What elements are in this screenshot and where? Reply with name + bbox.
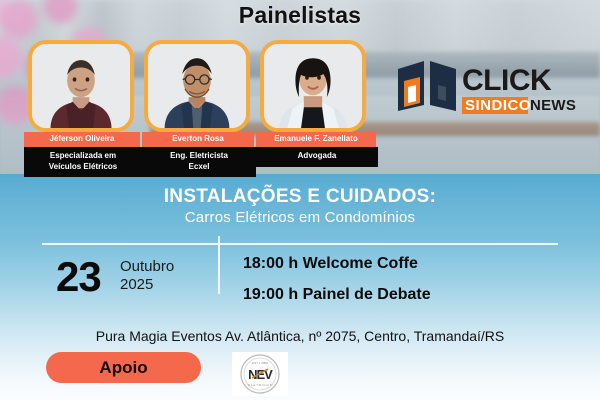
logo-word-click: CLICK bbox=[462, 64, 552, 97]
logo-word-news: NEWS bbox=[530, 97, 576, 114]
logo-word-sindico: SINDICO bbox=[465, 97, 531, 114]
event-day: 23 bbox=[56, 256, 101, 298]
open-book-building-icon bbox=[398, 61, 456, 111]
panelist-name: Everton Rosa bbox=[142, 132, 254, 147]
panelist-name: Emanuele F. Zanellato bbox=[256, 132, 376, 147]
panelist-photo-frame bbox=[260, 40, 366, 132]
sponsor-top-microtext: EST 1 2008 bbox=[252, 361, 268, 365]
sponsor-logo-container: EST 1 2008 NEV E L É T R I C O S bbox=[232, 352, 288, 396]
panelist-role-line-1: Advogada bbox=[258, 151, 376, 162]
panelist-role-line-1: Especializada em bbox=[26, 151, 140, 162]
nev-circular-seal-logo: EST 1 2008 NEV E L É T R I C O S bbox=[232, 352, 288, 396]
schedule-item-welcome-coffee: 18:00 h Welcome Coffe bbox=[243, 255, 418, 273]
panelist-card: Jéferson Oliveira Especializada em Veícu… bbox=[28, 40, 134, 177]
click-sindico-news-logo: CLICK SINDICO NEWS bbox=[396, 57, 576, 119]
event-flyer: Painelistas Jéferson Oliveira Espec bbox=[0, 0, 600, 400]
schedule-item-panel-debate: 19:00 h Painel de Debate bbox=[243, 286, 431, 304]
sponsor-bottom-microtext: E L É T R I C O S bbox=[248, 382, 271, 387]
panelists-heading: Painelistas bbox=[0, 2, 600, 29]
panelist-name: Jéferson Oliveira bbox=[24, 132, 140, 147]
venue-address: Pura Magia Eventos Av. Atlântica, nº 207… bbox=[0, 328, 600, 344]
panelist-card: Everton Rosa Eng. Eletricista Ecxel bbox=[144, 40, 250, 177]
panelists-list: Jéferson Oliveira Especializada em Veícu… bbox=[28, 40, 368, 177]
panelist-role-line-2: Ecxel bbox=[144, 162, 254, 173]
panelist-photo-frame bbox=[144, 40, 250, 132]
vertical-divider bbox=[218, 236, 220, 294]
event-year: 2025 bbox=[120, 276, 153, 295]
panelist-role: Eng. Eletricista Ecxel bbox=[142, 147, 256, 178]
event-title: INSTALAÇÕES E CUIDADOS: bbox=[0, 186, 600, 208]
sponsor-name: NEV bbox=[248, 367, 273, 382]
event-subtitle: Carros Elétricos em Condomínios bbox=[0, 209, 600, 226]
panelist-role: Especializada em Veículos Elétricos bbox=[24, 147, 142, 178]
panelist-role-line-2: Veículos Elétricos bbox=[26, 162, 140, 173]
panelist-photo-emanuele-zanellato bbox=[264, 44, 362, 128]
panelist-photo-everton-rosa bbox=[148, 44, 246, 128]
event-month: Outubro bbox=[120, 258, 174, 277]
panelist-role-line-1: Eng. Eletricista bbox=[144, 151, 254, 162]
panelist-role: Advogada bbox=[256, 147, 378, 167]
support-badge: Apoio bbox=[46, 352, 201, 383]
horizontal-divider bbox=[42, 243, 558, 245]
panelist-card: Emanuele F. Zanellato Advogada bbox=[260, 40, 366, 177]
panelist-photo-jeferson-oliveira bbox=[32, 44, 130, 128]
panelist-photo-frame bbox=[28, 40, 134, 132]
